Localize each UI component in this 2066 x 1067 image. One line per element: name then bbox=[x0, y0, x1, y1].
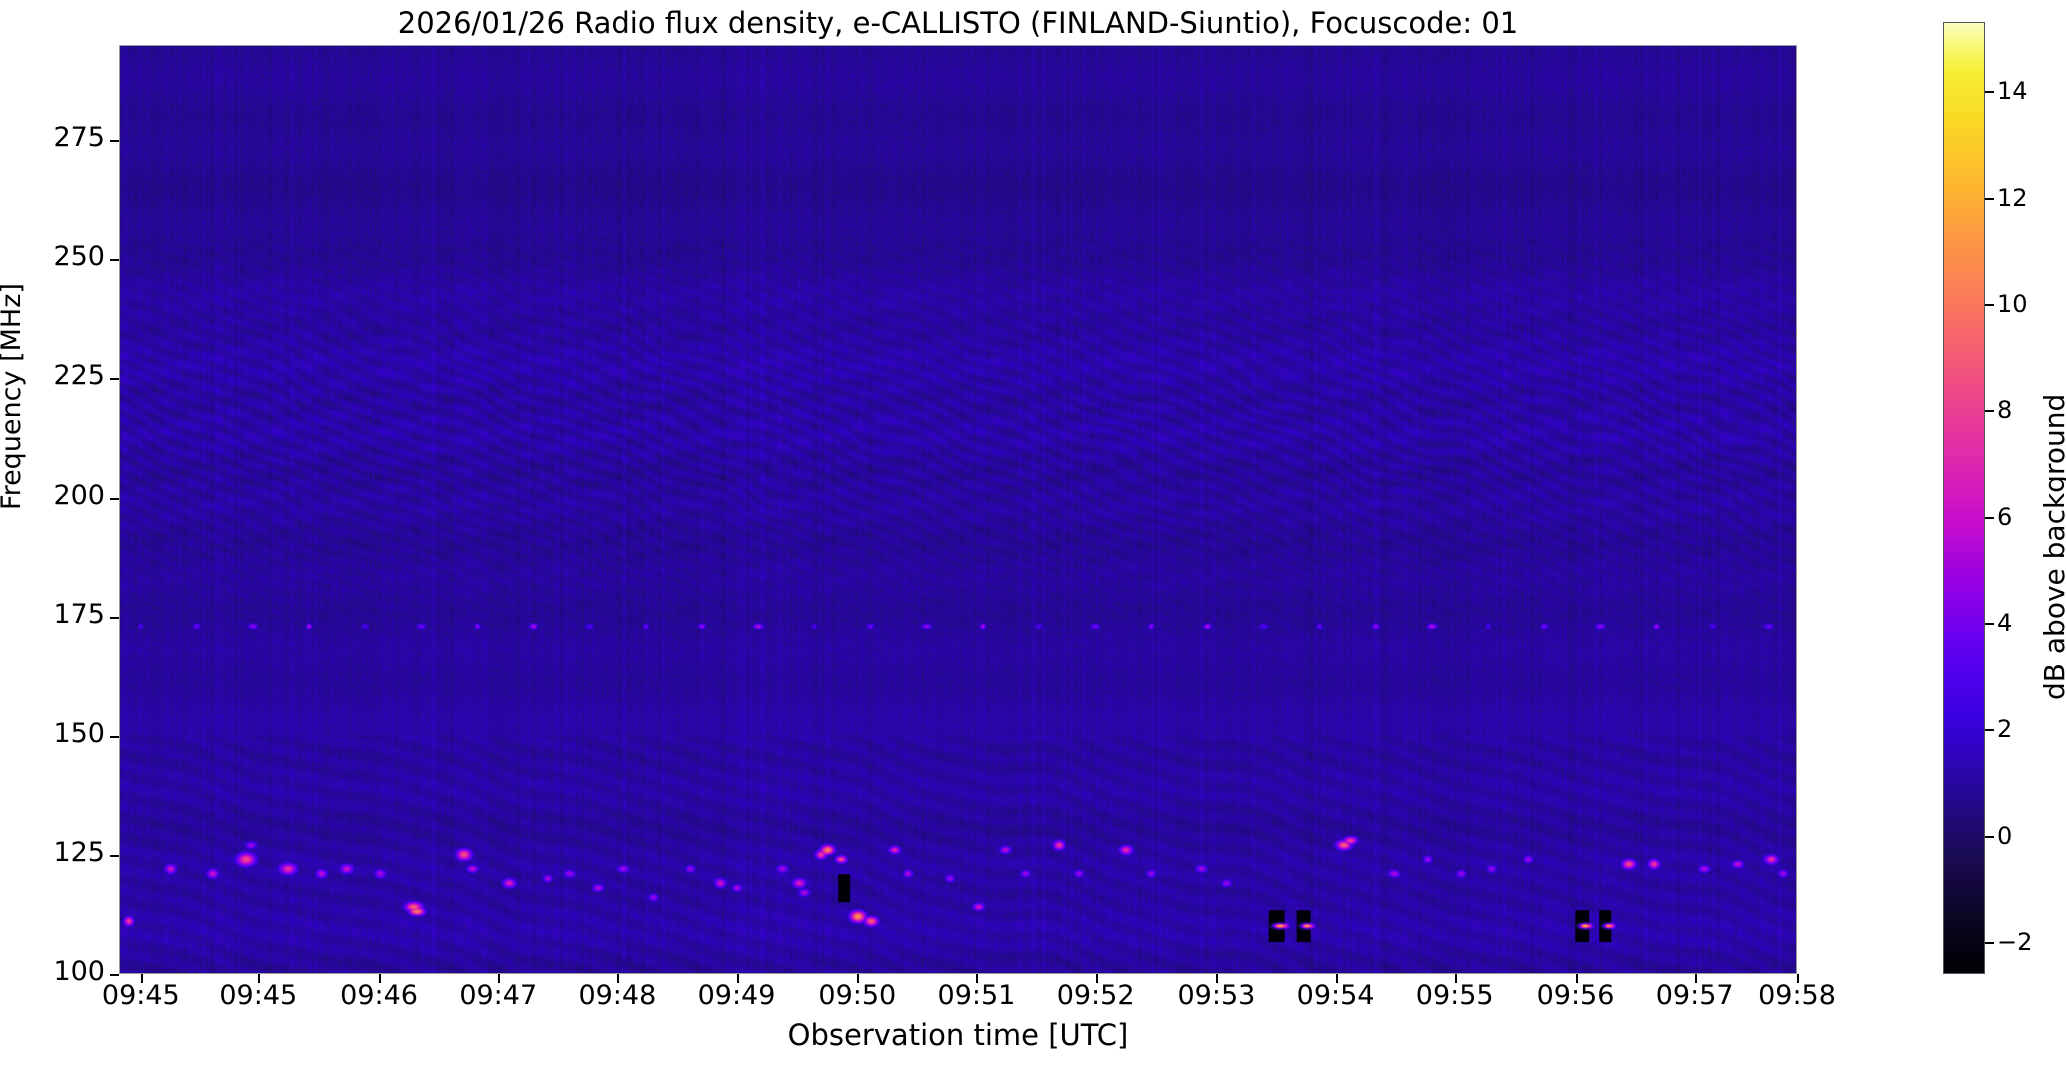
x-tick-label: 09:45 bbox=[219, 980, 297, 1011]
x-tick-label: 09:56 bbox=[1537, 980, 1615, 1011]
colorbar-tick-mark bbox=[1985, 410, 1994, 412]
x-tick-label: 09:54 bbox=[1297, 980, 1375, 1011]
x-tick-mark bbox=[1336, 974, 1338, 983]
y-tick-mark bbox=[110, 855, 119, 857]
colorbar-tick-label: 14 bbox=[1997, 77, 2028, 105]
colorbar-tick-mark bbox=[1985, 729, 1994, 731]
y-tick-label: 225 bbox=[0, 360, 105, 391]
x-tick-mark bbox=[141, 974, 143, 983]
y-tick-mark bbox=[110, 498, 119, 500]
colorbar-tick-mark bbox=[1985, 198, 1994, 200]
y-tick-mark bbox=[110, 974, 119, 976]
colorbar-tick-label: 10 bbox=[1997, 290, 2028, 318]
spectrogram-axes bbox=[119, 45, 1797, 974]
x-tick-label: 09:52 bbox=[1057, 980, 1135, 1011]
y-tick-label: 100 bbox=[0, 956, 105, 987]
x-tick-mark bbox=[1695, 974, 1697, 983]
x-tick-mark bbox=[498, 974, 500, 983]
x-tick-label: 09:49 bbox=[698, 980, 776, 1011]
x-tick-mark bbox=[1797, 974, 1799, 983]
colorbar-tick-mark bbox=[1985, 623, 1994, 625]
x-tick-mark bbox=[1096, 974, 1098, 983]
x-tick-label: 09:58 bbox=[1758, 980, 1836, 1011]
colorbar-tick-mark bbox=[1985, 942, 1994, 944]
y-tick-mark bbox=[110, 736, 119, 738]
colorbar-tick-label: 4 bbox=[1997, 609, 2012, 637]
y-tick-mark bbox=[110, 140, 119, 142]
colorbar bbox=[1943, 22, 1985, 974]
y-tick-label: 175 bbox=[0, 599, 105, 630]
x-tick-label: 09:50 bbox=[818, 980, 896, 1011]
colorbar-tick-mark bbox=[1985, 91, 1994, 93]
chart-title: 2026/01/26 Radio flux density, e-CALLIST… bbox=[119, 6, 1797, 40]
colorbar-tick-label: 6 bbox=[1997, 503, 2012, 531]
x-tick-label: 09:46 bbox=[340, 980, 418, 1011]
x-tick-mark bbox=[379, 974, 381, 983]
spectrogram-image bbox=[120, 46, 1796, 973]
x-axis-label: Observation time [UTC] bbox=[119, 1018, 1797, 1052]
x-tick-mark bbox=[258, 974, 260, 983]
colorbar-tick-label: −2 bbox=[1997, 928, 2032, 956]
x-tick-label: 09:57 bbox=[1656, 980, 1734, 1011]
colorbar-tick-label: 12 bbox=[1997, 184, 2028, 212]
x-tick-mark bbox=[1216, 974, 1218, 983]
x-tick-mark bbox=[857, 974, 859, 983]
x-tick-label: 09:47 bbox=[459, 980, 537, 1011]
x-tick-mark bbox=[1576, 974, 1578, 983]
x-tick-mark bbox=[1455, 974, 1457, 983]
y-tick-mark bbox=[110, 259, 119, 261]
colorbar-tick-label: 0 bbox=[1997, 822, 2012, 850]
x-tick-mark bbox=[617, 974, 619, 983]
x-tick-label: 09:48 bbox=[578, 980, 656, 1011]
figure-canvas: 2026/01/26 Radio flux density, e-CALLIST… bbox=[0, 0, 2066, 1067]
y-tick-label: 200 bbox=[0, 480, 105, 511]
y-axis-label: Frequency [MHz] bbox=[0, 283, 27, 510]
colorbar-tick-label: 2 bbox=[1997, 715, 2012, 743]
y-tick-mark bbox=[110, 617, 119, 619]
y-tick-label: 125 bbox=[0, 837, 105, 868]
x-tick-label: 09:45 bbox=[102, 980, 180, 1011]
colorbar-tick-mark bbox=[1985, 304, 1994, 306]
y-tick-label: 250 bbox=[0, 241, 105, 272]
colorbar-tick-label: 8 bbox=[1997, 396, 2012, 424]
colorbar-tick-mark bbox=[1985, 836, 1994, 838]
x-tick-mark bbox=[976, 974, 978, 983]
y-tick-label: 275 bbox=[0, 122, 105, 153]
y-tick-label: 150 bbox=[0, 718, 105, 749]
colorbar-label: dB above background bbox=[2038, 394, 2066, 700]
x-tick-label: 09:51 bbox=[938, 980, 1016, 1011]
y-tick-mark bbox=[110, 378, 119, 380]
x-tick-label: 09:55 bbox=[1416, 980, 1494, 1011]
colorbar-tick-mark bbox=[1985, 517, 1994, 519]
x-tick-label: 09:53 bbox=[1178, 980, 1256, 1011]
x-tick-mark bbox=[737, 974, 739, 983]
